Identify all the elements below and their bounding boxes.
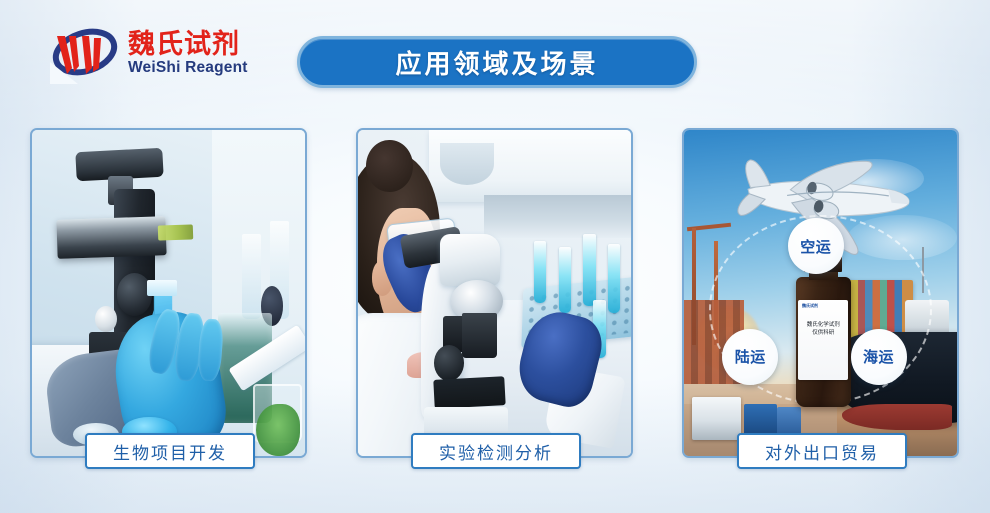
- brand-wordmark: 魏氏试剂 WeiShi Reagent: [128, 30, 248, 78]
- page-title: 应用领域及场景: [395, 44, 598, 81]
- shipping-mode-air: 空运: [788, 218, 844, 274]
- photo-lab-microscope-flask: [32, 130, 305, 456]
- photo-logistics-collage: 魏氏试剂 魏氏化学试剂 仅供科研 空运 陆运 海运: [684, 130, 957, 456]
- bottle-label-line1: 魏氏化学试剂: [807, 321, 840, 329]
- shipping-mode-sea: 海运: [851, 329, 907, 385]
- slide-canvas: 魏氏试剂 WeiShi Reagent 应用领域及场景: [0, 0, 990, 513]
- application-cards: 魏氏试剂 魏氏化学试剂 仅供科研 空运 陆运 海运 生物项目开发: [0, 128, 990, 468]
- section-title-banner: 应用领域及场景: [297, 36, 697, 88]
- card-experimental-testing-analysis[interactable]: [356, 128, 633, 458]
- shipping-mode-air-label: 空运: [800, 236, 831, 257]
- caption-experimental-testing-analysis: 实验检测分析: [411, 433, 581, 469]
- caption-foreign-export-trade: 对外出口贸易: [737, 433, 907, 469]
- weishi-w-logo-icon: [48, 22, 122, 84]
- photo-researcher-microscope: [358, 130, 631, 456]
- bottle-label: 魏氏试剂 魏氏化学试剂 仅供科研: [798, 300, 848, 380]
- shipping-mode-land: 陆运: [722, 329, 778, 385]
- brand-name-en: WeiShi Reagent: [128, 59, 248, 78]
- caption-label: 对外出口贸易: [765, 439, 879, 464]
- card-foreign-export-trade[interactable]: 魏氏试剂 魏氏化学试剂 仅供科研 空运 陆运 海运: [682, 128, 959, 458]
- brand-logo: 魏氏试剂 WeiShi Reagent: [48, 22, 248, 84]
- shipping-mode-sea-label: 海运: [863, 346, 894, 367]
- shipping-mode-land-label: 陆运: [735, 346, 766, 367]
- bottle-label-brand: 魏氏试剂: [802, 304, 818, 308]
- caption-label: 实验检测分析: [439, 439, 553, 464]
- card-biological-project-development[interactable]: [30, 128, 307, 458]
- caption-biological-project-development: 生物项目开发: [85, 433, 255, 469]
- bottle-label-line2: 仅供科研: [812, 329, 834, 337]
- slide-header: 魏氏试剂 WeiShi Reagent 应用领域及场景: [0, 0, 990, 118]
- product-bottle: 魏氏试剂 魏氏化学试剂 仅供科研: [793, 254, 853, 407]
- caption-label: 生物项目开发: [113, 439, 227, 464]
- brand-name-cn: 魏氏试剂: [128, 30, 248, 58]
